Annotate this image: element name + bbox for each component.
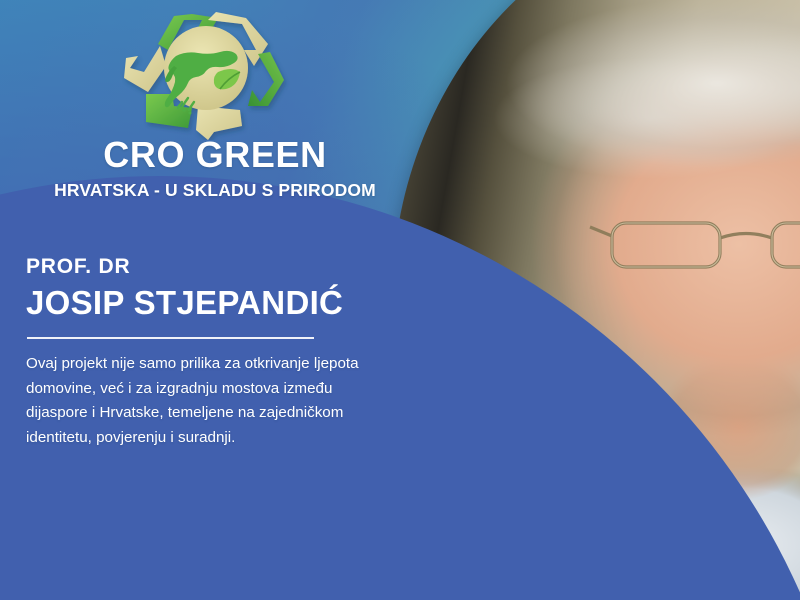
quote-line: Ovaj projekt nije samo prilika za otkriv… xyxy=(26,352,391,377)
person-block: PROF. DR JOSIP STJEPANDIĆ xyxy=(26,256,343,319)
quote-text: Ovaj projekt nije samo prilika za otkriv… xyxy=(26,352,391,451)
recycle-arrows-icon xyxy=(124,12,284,140)
poster-canvas: CRO GREEN HRVATSKA - U SKLADU S PRIRODOM… xyxy=(0,0,800,600)
cro-green-recycle-logo xyxy=(122,10,292,140)
person-name: JOSIP STJEPANDIĆ xyxy=(26,286,343,319)
brand-tagline: HRVATSKA - U SKLADU S PRIRODOM xyxy=(0,180,430,201)
quote-line: dijaspore i Hrvatske, temeljene na zajed… xyxy=(26,401,391,426)
quote-line: domovine, već i za izgradnju mostova izm… xyxy=(26,377,391,402)
person-title-prefix: PROF. DR xyxy=(26,256,343,277)
brand-block: CRO GREEN HRVATSKA - U SKLADU S PRIRODOM xyxy=(0,136,430,201)
glasses-icon xyxy=(588,214,800,276)
quote-line: identitetu, povjerenju i suradnji. xyxy=(26,426,391,451)
divider-rule xyxy=(27,337,314,339)
brand-name: CRO GREEN xyxy=(0,136,430,174)
